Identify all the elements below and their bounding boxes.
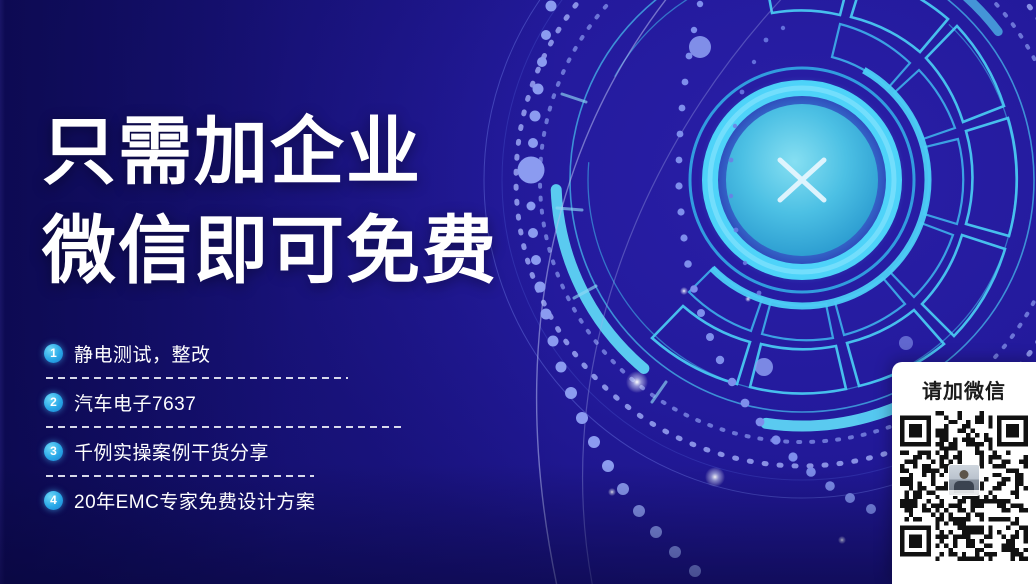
promo-poster: 只需加企业 微信即可免费 1 静电测试，整改 2 汽车电子7637 3 千例实操… <box>0 0 1036 584</box>
list-item: 2 汽车电子7637 <box>44 387 464 417</box>
hud-core-cross <box>780 160 824 200</box>
feature-list: 1 静电测试，整改 2 汽车电子7637 3 千例实操案例干货分享 4 20年E… <box>44 338 464 515</box>
list-divider <box>46 426 401 428</box>
list-item: 3 千例实操案例干货分享 <box>44 436 464 466</box>
qr-card-title: 请加微信 <box>892 362 1036 403</box>
bullet-number-badge: 1 <box>44 344 63 363</box>
list-item-label: 汽车电子7637 <box>74 389 196 416</box>
bullet-number-badge: 4 <box>44 491 63 510</box>
list-item-label: 千例实操案例干货分享 <box>74 438 269 465</box>
list-divider <box>46 377 348 379</box>
left-edge-strip <box>0 0 5 584</box>
headline-line-1: 只需加企业 <box>42 104 498 203</box>
qr-code-alt: wechat-qr-code <box>900 561 901 562</box>
list-item: 4 20年EMC专家免费设计方案 <box>44 485 464 515</box>
bullet-number-badge: 3 <box>44 442 63 461</box>
headline-line-2: 微信即可免费 <box>42 203 498 302</box>
qr-code-wrapper[interactable]: wechat-qr-code <box>900 411 1028 561</box>
list-divider <box>46 475 314 477</box>
wechat-qr-card[interactable]: 请加微信 wechat-qr-code <box>892 362 1036 584</box>
page-title: 只需加企业 微信即可免费 <box>42 104 498 302</box>
list-item: 1 静电测试，整改 <box>44 338 464 368</box>
list-item-label: 静电测试，整改 <box>74 340 211 367</box>
contact-avatar <box>948 464 980 496</box>
list-item-label: 20年EMC专家免费设计方案 <box>74 487 315 514</box>
bullet-number-badge: 2 <box>44 393 63 412</box>
